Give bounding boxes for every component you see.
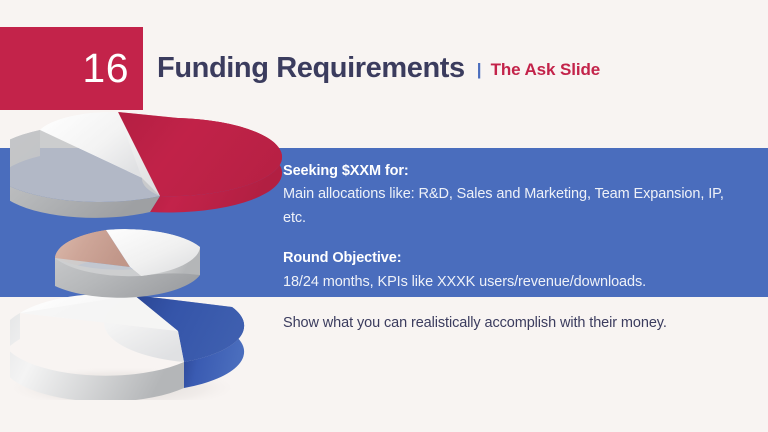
block-lead: Seeking $XXM for:: [283, 160, 733, 182]
page-title: Funding Requirements: [157, 52, 465, 85]
slide-canvas: 16 Funding Requirements | The Ask Slide …: [0, 0, 768, 432]
footnote-text: Show what you can realistically accompli…: [283, 313, 753, 335]
title-subtag: The Ask Slide: [491, 60, 601, 80]
title-group: Funding Requirements | The Ask Slide: [143, 52, 600, 85]
block-body: 18/24 months, KPIs like XXXK users/reven…: [283, 271, 733, 294]
top-disc: [10, 112, 282, 218]
block-body: Main allocations like: R&D, Sales and Ma…: [283, 183, 733, 230]
content-area: Seeking $XXM for: Main allocations like:…: [283, 160, 733, 294]
stacked-pie-discs-illustration: [10, 100, 290, 400]
title-separator-icon: |: [477, 60, 482, 80]
block-lead: Round Objective:: [283, 247, 733, 269]
content-block: Round Objective: 18/24 months, KPIs like…: [283, 247, 733, 294]
middle-disc: [55, 229, 200, 298]
slide-header: 16 Funding Requirements | The Ask Slide: [0, 27, 768, 110]
content-block: Seeking $XXM for: Main allocations like:…: [283, 160, 733, 230]
slide-number: 16: [0, 27, 143, 110]
